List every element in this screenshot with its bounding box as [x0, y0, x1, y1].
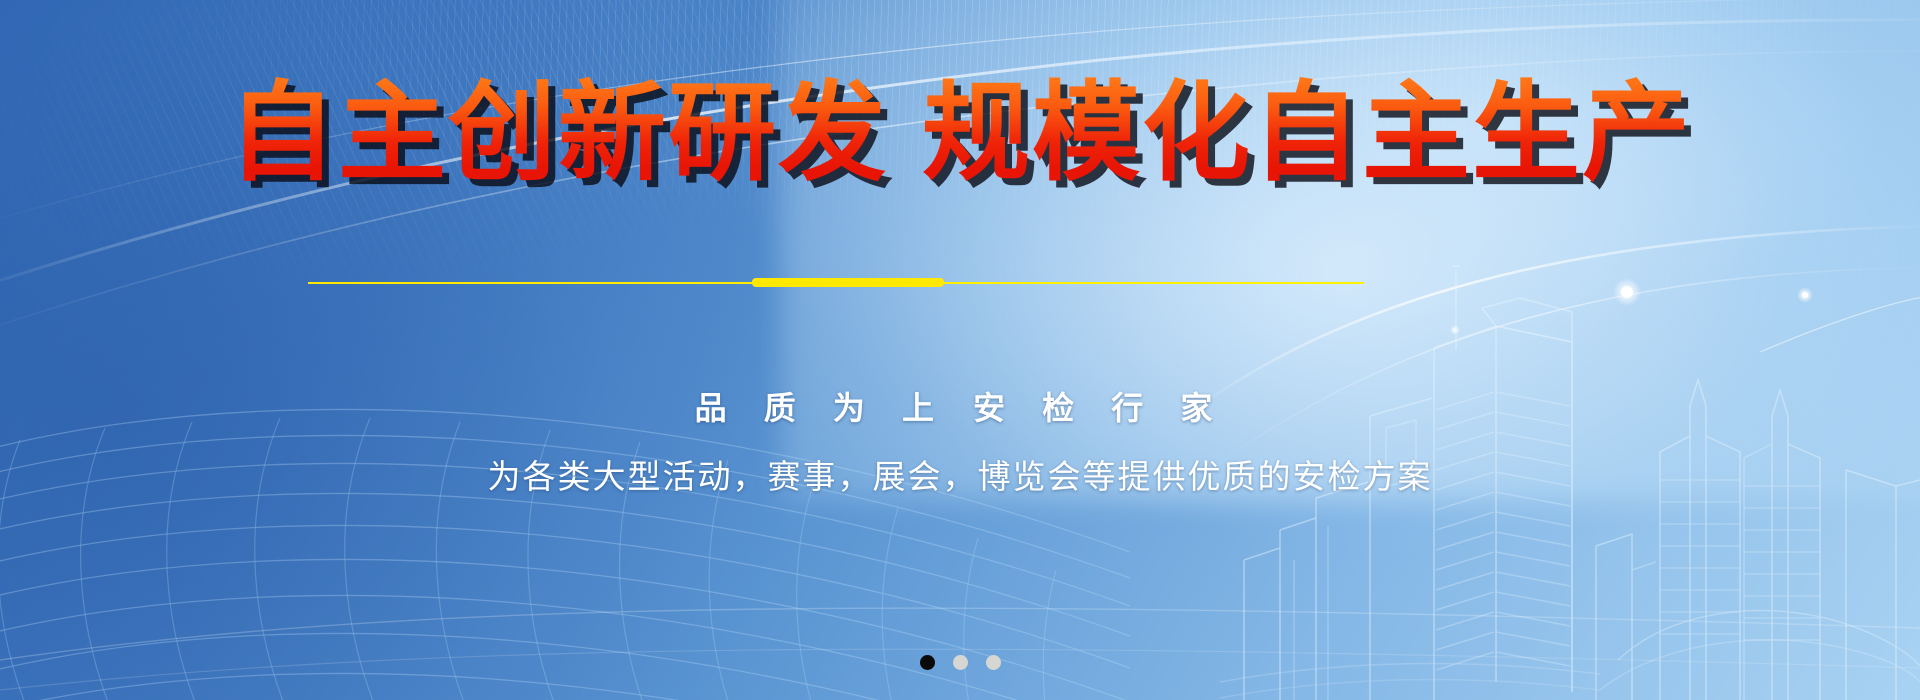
- yellow-divider: [0, 276, 1920, 290]
- divider-thick-segment: [752, 278, 944, 287]
- headline-part-2: 规模化自主生产: [922, 71, 1692, 196]
- headline-part-1: 自主创新研发: [228, 71, 888, 196]
- carousel-dots[interactable]: [0, 655, 1920, 670]
- carousel-dot-1[interactable]: [920, 655, 935, 670]
- subtitle: 为各类大型活动，赛事，展会，博览会等提供优质的安检方案: [0, 450, 1920, 498]
- tagline-right: 安 检 行 家: [973, 389, 1225, 427]
- carousel-dot-2[interactable]: [953, 655, 968, 670]
- page-title: 自主创新研发规模化自主生产: [0, 76, 1920, 193]
- banner-content: 自主创新研发规模化自主生产 品 质 为 上安 检 行 家 为各类大型活动，赛事，…: [0, 0, 1920, 700]
- tagline: 品 质 为 上安 检 行 家: [0, 383, 1920, 429]
- tagline-left: 品 质 为 上: [695, 389, 947, 427]
- hero-banner: 自主创新研发规模化自主生产 品 质 为 上安 检 行 家 为各类大型活动，赛事，…: [0, 0, 1920, 700]
- carousel-dot-3[interactable]: [986, 655, 1001, 670]
